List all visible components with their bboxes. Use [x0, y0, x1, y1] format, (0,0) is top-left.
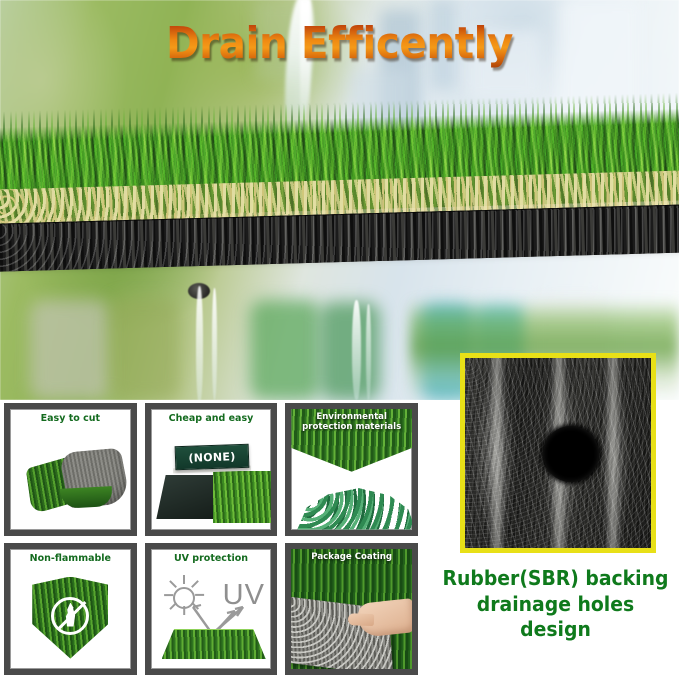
feature-card-package-coating[interactable]: Package Coating — [285, 543, 418, 676]
roll-edge — [60, 486, 113, 509]
turf-cross-section — [0, 108, 679, 262]
rubber-backing-photo-panel — [460, 353, 656, 553]
product-infographic: Drain Efficently Rubber(SBR) backing dra… — [0, 0, 679, 679]
none-sign: (NONE) — [174, 444, 249, 471]
sun-uv-icon: UV — [151, 549, 272, 670]
water-drip-stream — [212, 288, 217, 400]
feature-label: Environmental protection materials — [291, 412, 412, 432]
no-fire-shield-icon — [10, 549, 131, 670]
thumb-graphic — [348, 613, 374, 626]
background-blur-shape — [30, 300, 110, 400]
water-drip-stream — [352, 300, 361, 400]
feature-label: Package Coating — [291, 552, 412, 562]
none-sign-text: (NONE) — [188, 450, 236, 465]
green-pellets-pile — [297, 484, 415, 530]
feature-label: Easy to cut — [10, 413, 131, 424]
water-drip-stream — [196, 286, 203, 400]
drainage-hole — [543, 426, 599, 482]
hand-lifting-turf-icon — [291, 549, 412, 670]
feature-label: Non-flammable — [10, 553, 131, 564]
rubber-backing-caption: Rubber(SBR) backing drainage holes desig… — [439, 566, 671, 643]
rubber-ridge — [605, 353, 621, 553]
hand-graphic — [356, 598, 415, 638]
feature-card-cheap-and-easy[interactable]: (NONE) Cheap and easy — [145, 403, 278, 536]
caption-line-2: drainage holes design — [439, 592, 671, 643]
prohibition-circle-icon — [51, 597, 89, 635]
background-blur-shape — [110, 298, 180, 400]
turf-roll-icon — [10, 409, 131, 530]
background-blur-shape — [320, 302, 380, 400]
green-turf-swatch — [213, 471, 271, 523]
caption-line-1: Rubber(SBR) backing — [439, 566, 671, 592]
none-sign-icon: (NONE) — [151, 409, 272, 530]
rolled-turf-graphic — [24, 447, 123, 517]
turf-mat-graphic — [162, 629, 266, 659]
rubber-ridge — [489, 353, 505, 553]
feature-label: Cheap and easy — [151, 413, 272, 424]
water-drip-stream — [366, 304, 371, 400]
feature-card-uv-protection[interactable]: UV UV protection — [145, 543, 278, 676]
feature-card-non-flammable[interactable]: Non-flammable — [4, 543, 137, 676]
background-blur-shape — [250, 300, 320, 400]
feature-card-environmental-protection[interactable]: Environmental protection materials — [285, 403, 418, 536]
feature-grid: Easy to cut (NONE) Cheap and easy Enviro… — [4, 403, 418, 675]
headline-title: Drain Efficently — [27, 18, 652, 69]
feature-card-easy-to-cut[interactable]: Easy to cut — [4, 403, 137, 536]
feature-label: UV protection — [151, 553, 272, 564]
